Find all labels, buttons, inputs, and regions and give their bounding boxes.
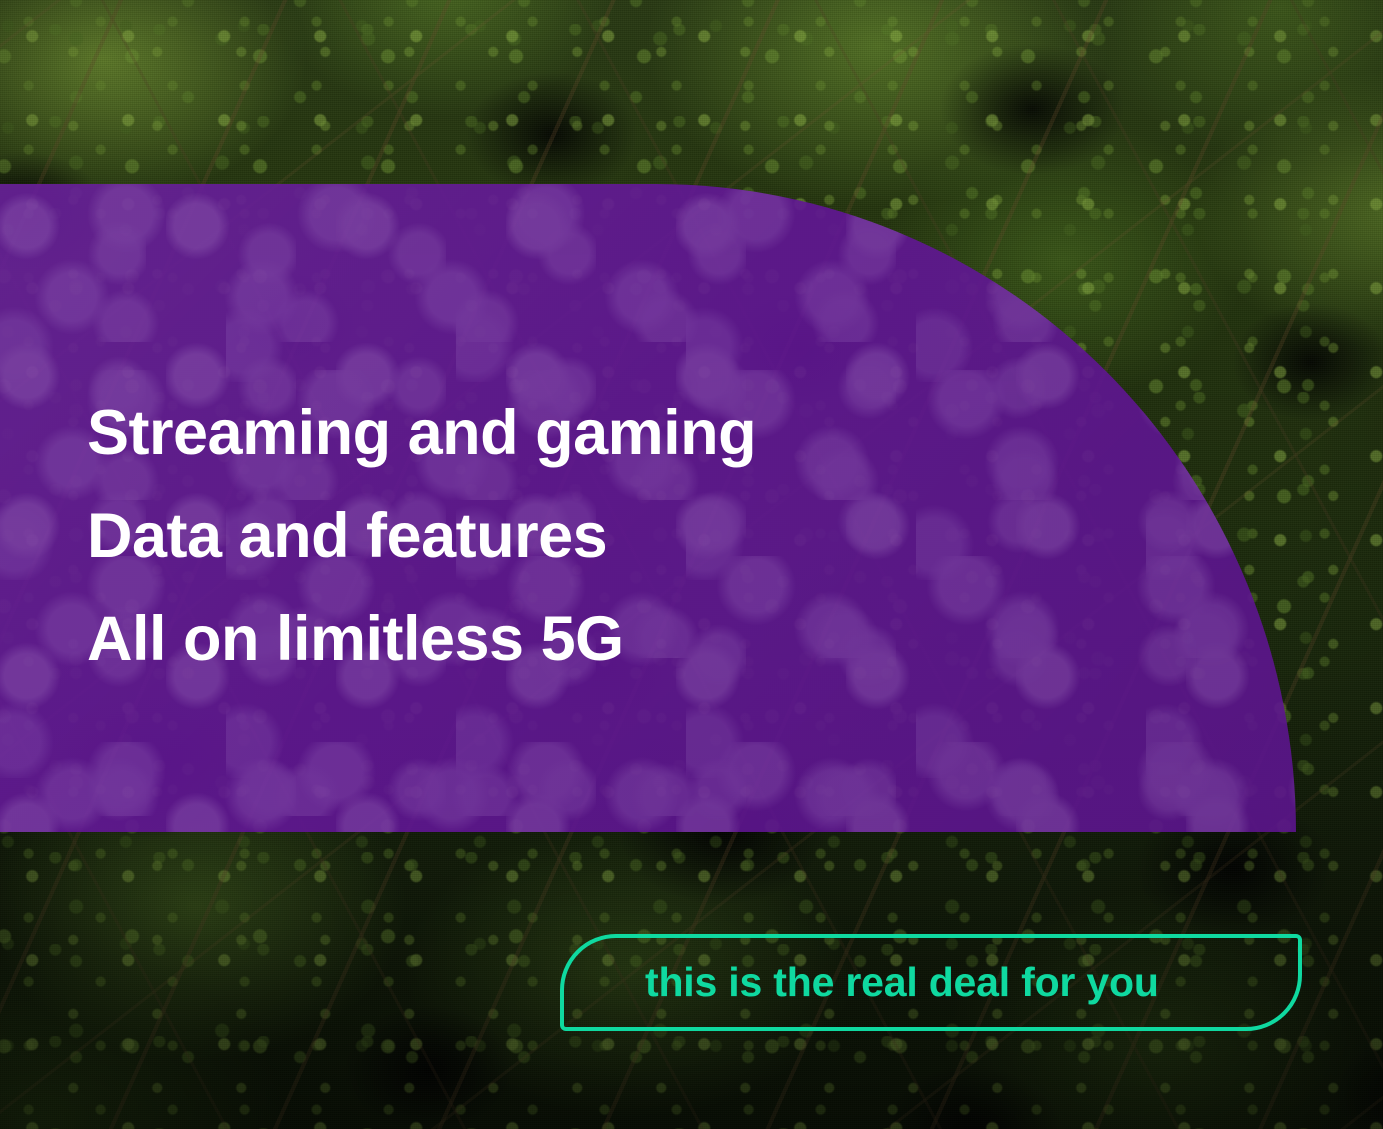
headline-line-2: Data and features: [87, 485, 756, 588]
banner-canvas: Streaming and gaming Data and features A…: [0, 0, 1383, 1129]
real-deal-badge[interactable]: this is the real deal for you: [560, 934, 1302, 1031]
real-deal-badge-label: this is the real deal for you: [645, 959, 1159, 1006]
headline-line-3: All on limitless 5G: [87, 588, 756, 691]
headline-block: Streaming and gaming Data and features A…: [87, 382, 756, 691]
headline-line-1: Streaming and gaming: [87, 382, 756, 485]
